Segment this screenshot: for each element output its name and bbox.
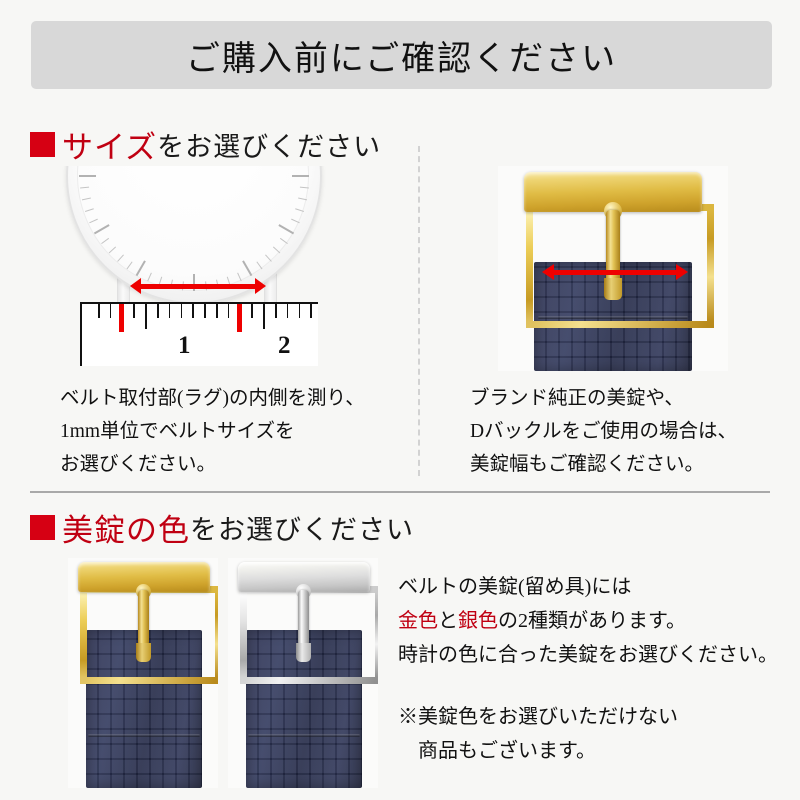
lug-width-arrow: [130, 278, 266, 294]
watch-tick: [295, 208, 304, 212]
buckle-color-note: ※美錠色をお選びいただけない 商品もございます。: [398, 700, 678, 768]
silver-buckle-swatch: [228, 558, 378, 788]
buckle-caption: ブランド純正の美錠や、 Dバックルをご使用の場合は、 美錠幅もご確認ください。: [470, 382, 737, 481]
ruler-tick: [157, 304, 159, 318]
arrow-bar: [552, 270, 678, 275]
ruler-tick: [169, 304, 171, 318]
size-caption-line-1: ベルト取付部(ラグ)の内側を測り、: [60, 382, 365, 415]
buckle-frame: [240, 586, 378, 684]
ruler-label-2: 2: [278, 332, 291, 360]
size-caption-line-3: お選びください。: [60, 448, 365, 481]
ruler-tick: [204, 304, 206, 318]
ruler: 1 2: [80, 302, 318, 366]
banner-title: ご購入前にご確認ください: [186, 31, 617, 80]
arrow-head-right-icon: [255, 278, 266, 294]
watch-tick: [278, 224, 294, 234]
strap-seam-lower: [248, 734, 360, 737]
buckle-color-line-3: 時計の色に合った美錠をお選びください。: [398, 638, 778, 672]
watch-tick: [292, 175, 309, 177]
size-caption: ベルト取付部(ラグ)の内側を測り、 1mm単位でベルトサイズを お選びください。: [60, 382, 365, 481]
section-heading-size: サイズ をお選びください: [30, 122, 381, 167]
watch-tick: [89, 219, 98, 224]
section-heading-size-highlight: サイズ: [62, 122, 157, 167]
watch-tick: [79, 175, 96, 177]
size-caption-line-2: 1mm単位でベルトサイズを: [60, 415, 365, 448]
ruler-tick: [310, 304, 312, 318]
arrow-head-right-icon: [676, 264, 688, 280]
gold-label: 金色: [398, 610, 438, 632]
watch-tick: [84, 208, 93, 212]
product-info-graphic: ご購入前にご確認ください サイズ をお選びください: [0, 0, 800, 800]
buckle-tongue: [138, 590, 149, 646]
watch-tick: [242, 260, 252, 276]
buckle-frame: [80, 586, 218, 684]
ruler-marker-start: [119, 304, 124, 332]
red-square-icon: [30, 132, 55, 157]
buckle-width-arrow: [542, 264, 688, 280]
watch-tick: [298, 198, 307, 201]
ruler-marker-end: [237, 304, 242, 332]
strap-seam-lower: [88, 734, 200, 737]
buckle-color-note-line-2: 商品もございます。: [398, 734, 678, 768]
gold-buckle-photo: [498, 166, 728, 371]
red-square-icon: [30, 515, 55, 540]
watch-tick: [256, 261, 262, 269]
watch-tick: [136, 260, 146, 276]
ruler-tick: [251, 304, 253, 318]
buckle-tongue-tip: [604, 278, 622, 300]
ruler-tick: [228, 304, 230, 318]
section-divider: [30, 491, 770, 493]
buckle-tongue: [298, 590, 309, 646]
section-heading-color-rest: をお選びください: [190, 508, 414, 547]
ruler-tick: [263, 304, 265, 329]
ruler-tick: [299, 304, 301, 318]
watch-tick: [101, 238, 109, 244]
ruler-tick: [145, 304, 147, 329]
section-heading-color-highlight: 美錠の色: [62, 505, 190, 550]
ruler-label-1: 1: [178, 332, 191, 360]
buckle-color-text: ベルトの美錠(留め具)には 金色と銀色の2種類があります。 時計の色に合った美錠…: [398, 570, 778, 672]
ruler-tick: [287, 304, 289, 318]
watch-tick: [279, 238, 287, 244]
header-banner: ご購入前にご確認ください: [31, 21, 772, 89]
buckle-caption-line-3: 美錠幅もご確認ください。: [470, 448, 737, 481]
buckle-color-line-2-tail: の2種類があります。: [498, 610, 686, 632]
ruler-tick: [275, 304, 277, 318]
watch-tick: [108, 247, 115, 254]
ruler-tick: [110, 304, 112, 318]
section-heading-buckle-color: 美錠の色 をお選びください: [30, 505, 414, 550]
column-divider: [418, 146, 420, 476]
watch-tick: [291, 219, 300, 224]
buckle-tongue-tip: [136, 643, 151, 662]
buckle-caption-line-2: Dバックルをご使用の場合は、: [470, 415, 737, 448]
ruler-tick: [181, 304, 183, 318]
buckle-caption-line-1: ブランド純正の美錠や、: [470, 382, 737, 415]
gold-buckle-swatch: [68, 558, 218, 788]
watch-tick: [94, 224, 110, 234]
watch-lug-ruler-diagram: 1 2: [48, 166, 348, 366]
arrow-bar: [139, 284, 257, 289]
watch-tick: [117, 254, 124, 261]
watch-tick: [272, 247, 279, 254]
ruler-tick: [192, 304, 194, 318]
conjunction: と: [438, 610, 458, 632]
buckle-color-line-1: ベルトの美錠(留め具)には: [398, 570, 778, 604]
buckle-color-line-2: 金色と銀色の2種類があります。: [398, 604, 778, 638]
watch-tick: [81, 198, 90, 201]
silver-label: 銀色: [458, 610, 498, 632]
buckle-tongue-tip: [296, 643, 311, 662]
buckle-color-note-line-1: ※美錠色をお選びいただけない: [398, 700, 678, 734]
ruler-tick: [98, 304, 100, 318]
ruler-tick: [216, 304, 218, 318]
ruler-tick: [133, 304, 135, 318]
watch-tick: [265, 254, 272, 261]
watch-tick: [80, 187, 89, 189]
watch-tick: [126, 261, 132, 269]
section-heading-size-rest: をお選びください: [157, 125, 381, 164]
watch-tick: [299, 187, 308, 189]
